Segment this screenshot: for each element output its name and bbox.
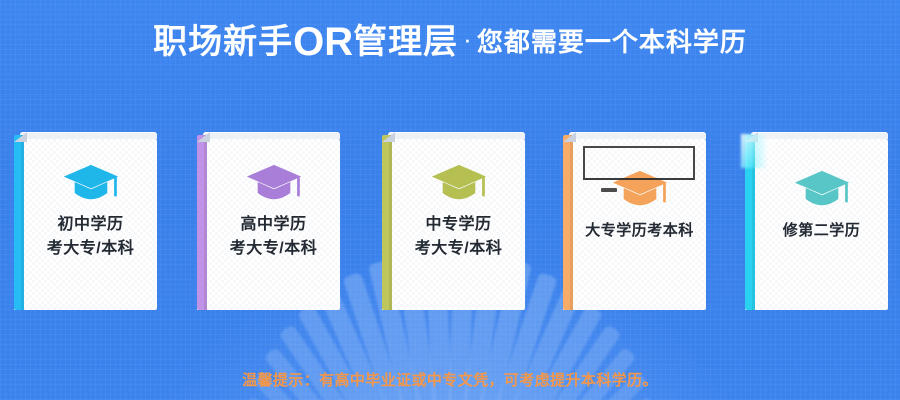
card-labels: 中专学历考大专/本科 (415, 213, 502, 261)
card-label-line: 考大专/本科 (230, 237, 317, 261)
graduation-cap-icon (245, 163, 303, 203)
headline-separator-dot: · (458, 24, 477, 54)
card-spine (745, 135, 755, 310)
card-content: 高中学历考大专/本科 (207, 139, 340, 310)
card-top-edge (20, 132, 157, 139)
card-artifact-dash (601, 188, 617, 192)
education-path-card-list: 初中学历考大专/本科高中学历考大专/本科中专学历考大专/本科大专学历考本科修第二… (0, 132, 900, 317)
card-label-line: 高中学历 (230, 213, 317, 237)
education-path-card[interactable]: 修第二学历 (745, 132, 888, 310)
graduation-cap-icon (793, 169, 851, 209)
card-spine (563, 135, 573, 310)
card-label-line: 中专学历 (415, 213, 502, 237)
card-label-line: 初中学历 (47, 213, 134, 237)
card-content: 中专学历考大专/本科 (392, 139, 525, 310)
headline: 职场新手OR管理层·您都需要一个本科学历 (0, 22, 900, 62)
education-path-card[interactable]: 初中学历考大专/本科 (14, 132, 157, 310)
card-labels: 修第二学历 (783, 219, 861, 243)
card-labels: 大专学历考本科 (585, 219, 694, 243)
education-path-card[interactable]: 高中学历考大专/本科 (197, 132, 340, 310)
footer-note: 温馨提示：有高中毕业证或中专文凭，可考虑提升本科学历。 (0, 369, 900, 390)
education-path-card[interactable]: 中专学历考大专/本科 (382, 132, 525, 310)
card-label-line: 修第二学历 (783, 219, 861, 243)
card-spine (382, 135, 392, 310)
card-content: 初中学历考大专/本科 (24, 139, 157, 310)
headline-part-main2: 管理层 (353, 23, 458, 61)
card-label-line: 考大专/本科 (415, 237, 502, 261)
card-artifact-rectangle (583, 146, 695, 180)
education-path-card[interactable]: 大专学历考本科 (563, 132, 706, 310)
headline-part-main: 职场新手 (153, 23, 293, 61)
headline-part-sub: 您都需要一个本科学历 (477, 27, 747, 57)
card-content: 修第二学历 (755, 139, 888, 310)
headline-part-or: OR (293, 20, 353, 64)
card-spine (14, 135, 24, 310)
card-labels: 高中学历考大专/本科 (230, 213, 317, 261)
card-top-edge (751, 132, 888, 139)
card-top-edge (388, 132, 525, 139)
card-labels: 初中学历考大专/本科 (47, 213, 134, 261)
card-spine (197, 135, 207, 310)
graduation-cap-icon (62, 163, 120, 203)
card-label-line: 大专学历考本科 (585, 219, 694, 243)
card-top-edge (203, 132, 340, 139)
card-label-line: 考大专/本科 (47, 237, 134, 261)
promo-banner: 职场新手OR管理层·您都需要一个本科学历 初中学历考大专/本科高中学历考大专/本… (0, 0, 900, 400)
graduation-cap-icon (430, 163, 488, 203)
card-top-edge (569, 132, 706, 139)
